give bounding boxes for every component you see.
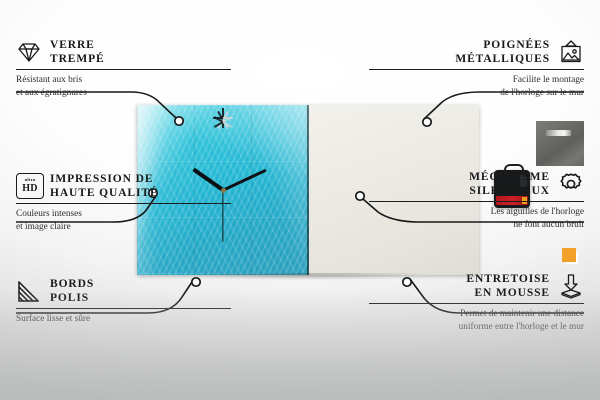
feature-divider [369,303,584,304]
feature-header: VERRE TREMPÉ [16,38,231,66]
feature-title: VERRE TREMPÉ [50,38,105,66]
feature-description: Résistant aux bris et aux égratignures [16,74,231,99]
hanger-slot [546,130,571,136]
clock-tick [223,117,233,119]
infographic-canvas: VERRE TREMPÉ Résistant aux bris et aux é… [0,0,600,400]
feature-title: POIGNÉES MÉTALLIQUES [455,38,550,66]
feature-divider [16,203,231,204]
feature-header: BORDS POLIS [16,277,231,305]
feature-bords-polis[interactable]: BORDS POLIS Surface lisse et sûre [16,277,231,326]
metal-hanger-plate [536,121,584,166]
ultra-hd-badge-icon: ultra HD [16,173,42,199]
gear-icon [558,171,584,197]
feature-divider [16,69,231,70]
feature-header: ENTRETOISE EN MOUSSE [369,272,584,300]
feature-title: MÉCANISME SILENCIEUX [469,170,550,198]
diamond-icon [16,39,42,65]
feature-entretoise-en-mousse[interactable]: ENTRETOISE EN MOUSSE Permet de maintenir… [369,272,584,333]
feature-header: ultra HD IMPRESSION DE HAUTE QUALITÉ [16,172,231,200]
feature-divider [16,308,231,309]
feature-title: IMPRESSION DE HAUTE QUALITÉ [50,172,159,200]
feature-header: MÉCANISME SILENCIEUX [369,170,584,198]
feature-poignees-metalliques[interactable]: POIGNÉES MÉTALLIQUES Facilite le montage… [369,38,584,99]
feature-description: Facilite le montage de l'horloge sur le … [369,74,584,99]
feature-description: Couleurs intenses et image claire [16,208,231,233]
feature-mecanisme-silencieux[interactable]: MÉCANISME SILENCIEUX Les aiguilles de l'… [369,170,584,231]
feature-description: Permet de maintenir une distance uniform… [369,308,584,333]
feature-divider [369,201,584,202]
feature-title: ENTRETOISE EN MOUSSE [466,272,550,300]
hatched-edge-icon [16,278,42,304]
feature-divider [369,69,584,70]
feature-description: Surface lisse et sûre [16,313,231,325]
feature-title: BORDS POLIS [50,277,94,305]
arrow-down-onto-pad-icon [558,273,584,299]
foam-spacer [562,248,576,262]
feature-header: POIGNÉES MÉTALLIQUES [369,38,584,66]
feature-impression-haute-qualite[interactable]: ultra HD IMPRESSION DE HAUTE QUALITÉ Cou… [16,172,231,233]
feature-description: Les aiguilles de l'horloge ne font aucun… [369,206,584,231]
hanging-picture-frame-icon [558,39,584,65]
feature-verre-trempe[interactable]: VERRE TREMPÉ Résistant aux bris et aux é… [16,38,231,99]
hd-badge-large-text: HD [22,184,38,194]
